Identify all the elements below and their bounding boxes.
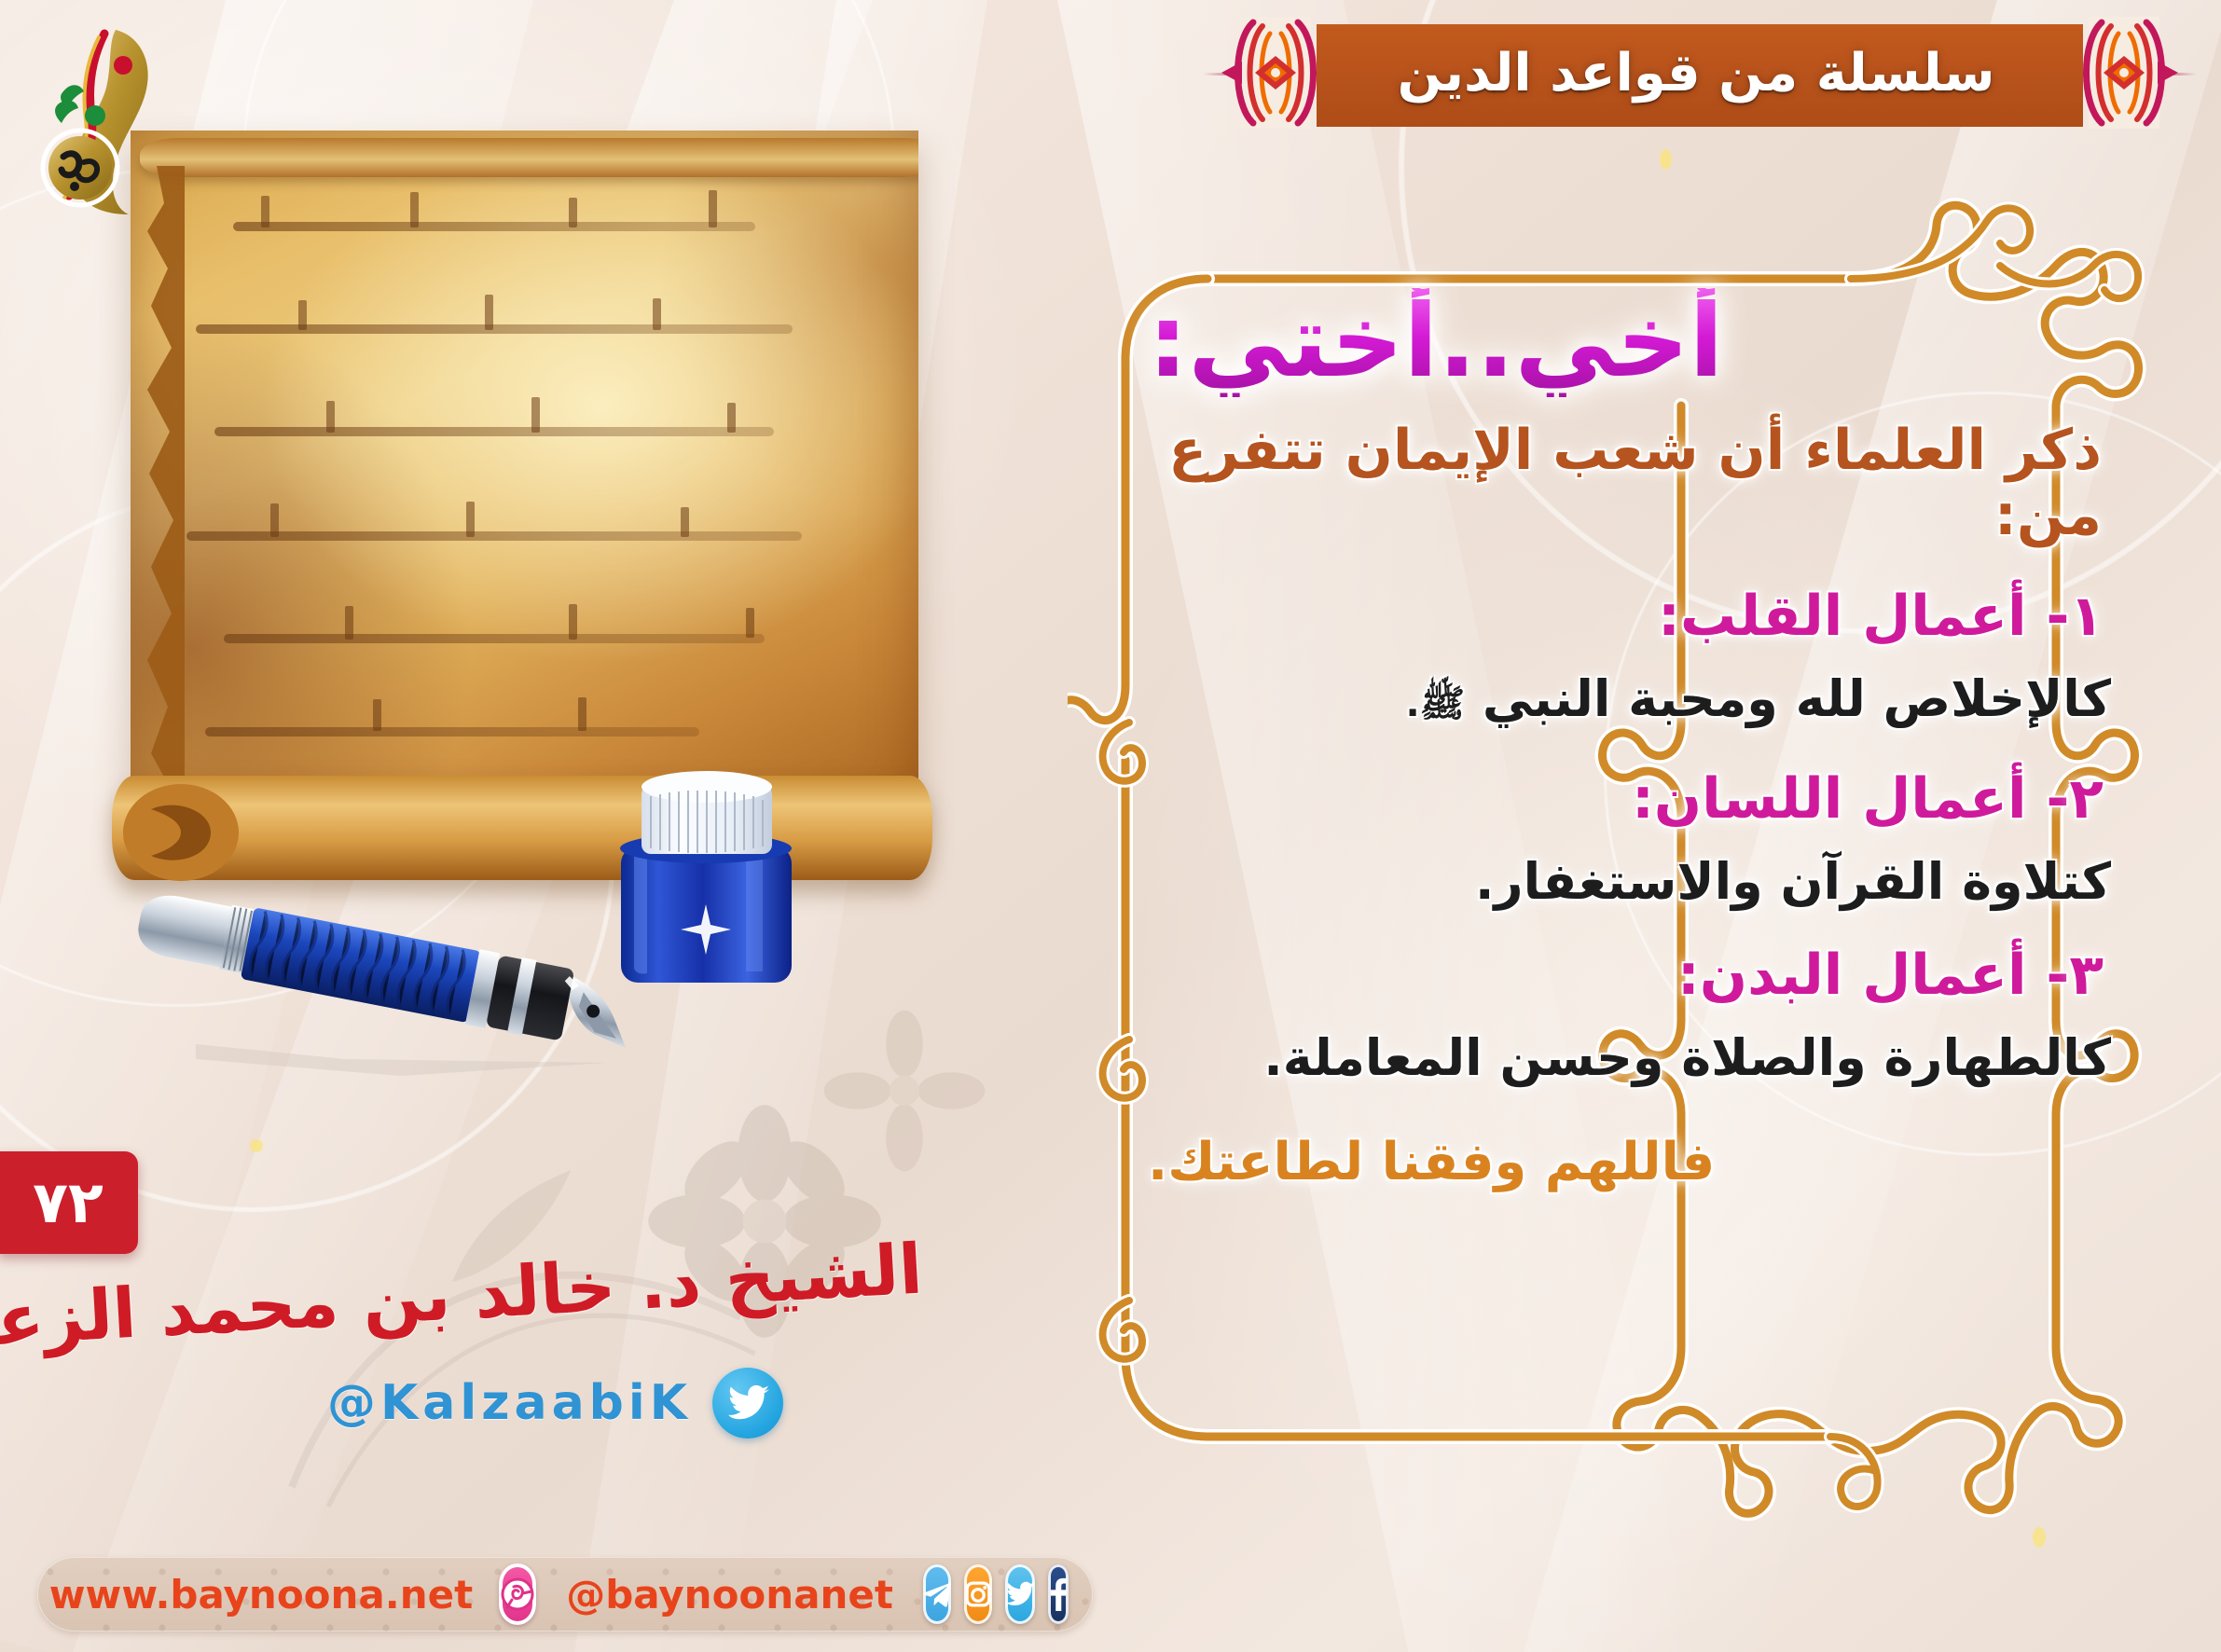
page-number-value: ٧٢ — [33, 1174, 103, 1232]
section-body-text: كالإخلاص لله ومحبة النبي — [1483, 669, 2111, 728]
poster-canvas: سلسلة من قواعد الدين — [0, 0, 2221, 1652]
salawat-symbol: ﷺ. — [1406, 682, 1466, 725]
closing-line: فاللهم وفقنا لطاعتك. — [1148, 1132, 1715, 1192]
instagram-icon[interactable] — [964, 1564, 992, 1624]
section-heart: ١- أعمال القلب: كالإخلاص لله ومحبة النبي… — [1148, 552, 2111, 735]
banner-ornament-right-icon — [2070, 17, 2178, 129]
twitter-bird-icon[interactable] — [712, 1368, 783, 1439]
section-heading: ٢- أعمال اللسان: — [1148, 766, 2104, 832]
telegram-glyph — [923, 1581, 951, 1607]
parchment-scroll — [131, 131, 918, 820]
baynoona-globe-icon[interactable] — [499, 1563, 536, 1625]
scroll-top-roll — [140, 138, 918, 177]
manuscript-illustration — [112, 112, 1026, 1100]
section-body-acts: ٣- أعمال البدن: كالطهارة والصلاة وحسن ال… — [1148, 911, 2111, 1087]
footer-social-handle[interactable]: @baynoonanet — [566, 1572, 893, 1618]
facebook-icon[interactable] — [1048, 1564, 1069, 1624]
intro-line: ذكر العلماء أن شعب الإيمان تتفرع من: — [1148, 418, 2102, 548]
section-heading: ١- أعمال القلب: — [1148, 584, 2104, 649]
footer-bar: @baynoonanet www.baynoona.net — [37, 1557, 1093, 1631]
content-body: أخي..أختي: ذكر العلماء أن شعب الإيمان تت… — [1116, 249, 2143, 1509]
page-title: أخي..أختي: — [1148, 288, 1724, 397]
telegram-icon[interactable] — [923, 1564, 951, 1624]
banner-ornament-left-icon — [1221, 17, 1330, 129]
twitter-bird-glyph — [726, 1384, 769, 1422]
section-body: كتلاوة القرآن والاستغفار. — [1148, 852, 2111, 911]
blue-fountain-pen — [121, 886, 671, 1100]
author-name: الشيخ د. خالد بن محمد الزعابي — [137, 1209, 926, 1374]
banner-title: سلسلة من قواعد الدين — [1398, 43, 1995, 103]
section-tongue: ٢- أعمال اللسان: كتلاوة القرآن والاستغفا… — [1148, 735, 2111, 911]
instagram-glyph — [964, 1580, 992, 1608]
content-frame: أخي..أختي: ذكر العلماء أن شعب الإيمان تت… — [1068, 200, 2191, 1552]
facebook-glyph — [1048, 1577, 1069, 1611]
scroll-curl-icon — [119, 781, 242, 884]
author-twitter[interactable]: @KalzaabiK — [298, 1361, 783, 1445]
twitter-icon[interactable] — [1005, 1564, 1035, 1624]
footer-website[interactable]: www.baynoona.net — [49, 1572, 473, 1618]
section-body: كالإخلاص لله ومحبة النبي ﷺ. — [1148, 669, 2111, 735]
header-banner: سلسلة من قواعد الدين — [1203, 17, 2197, 129]
baynoona-globe-glyph — [499, 1574, 536, 1615]
twitter-glyph — [1005, 1581, 1035, 1607]
twitter-handle[interactable]: @KalzaabiK — [327, 1375, 692, 1431]
scroll-torn-edge — [119, 166, 185, 819]
brand-logo-icon — [26, 26, 185, 217]
page-number-badge: ٧٢ — [0, 1151, 138, 1254]
section-body: كالطهارة والصلاة وحسن المعاملة. — [1148, 1028, 2111, 1087]
section-heading: ٣- أعمال البدن: — [1148, 943, 2104, 1008]
